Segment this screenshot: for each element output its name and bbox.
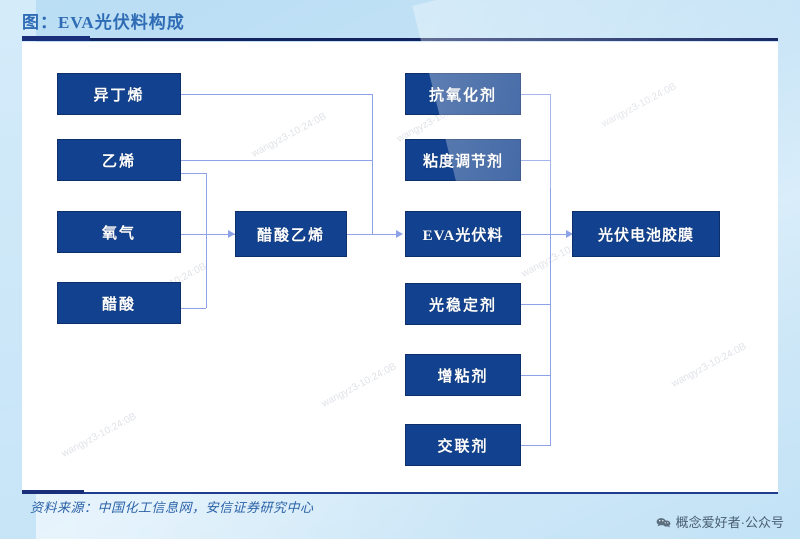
connector-antioxidant-h <box>521 94 550 95</box>
node-crosslinker[interactable]: 交联剂 <box>405 424 521 466</box>
connector-eva-out-h <box>521 234 550 235</box>
connector-isobutene-h <box>181 94 372 95</box>
arrowhead-to-eva <box>396 230 403 238</box>
footer-divider-cap <box>22 490 84 494</box>
node-acetic-acid[interactable]: 醋酸 <box>57 282 181 324</box>
node-pv-cell-encapsulant[interactable]: 光伏电池胶膜 <box>572 211 720 257</box>
page-title: 图：EVA光伏料构成 <box>22 11 778 41</box>
wechat-icon <box>656 516 671 527</box>
node-ethylene[interactable]: 乙烯 <box>57 139 181 181</box>
node-light-stabilizer-label: 光稳定剂 <box>429 294 497 315</box>
title-underline-cap <box>22 36 90 41</box>
connector-tackifier-h <box>521 375 550 376</box>
arrowhead-to-vinyl-acetate <box>228 230 235 238</box>
source-note: 资料来源：中国化工信息网，安信证券研究中心 <box>30 497 314 516</box>
node-eva-pv-resin[interactable]: EVA光伏料 <box>405 211 521 257</box>
node-vinyl-acetate-label: 醋酸乙烯 <box>257 224 325 245</box>
brand-credit-label: 概念爱好者·公众号 <box>676 512 784 531</box>
node-vinyl-acetate[interactable]: 醋酸乙烯 <box>235 211 347 257</box>
node-eva-pv-resin-label: EVA光伏料 <box>423 224 504 245</box>
connector-acetic-acid-h <box>181 308 206 309</box>
connector-upper-bus-v <box>372 94 373 234</box>
connector-lightstabilizer-h <box>521 304 550 305</box>
page-title-text: 图：EVA光伏料构成 <box>22 11 778 35</box>
node-viscosity-modifier[interactable]: 粘度调节剂 <box>405 139 521 181</box>
connector-viscosity-h <box>521 160 550 161</box>
connector-right-bus-v <box>550 94 551 446</box>
node-light-stabilizer[interactable]: 光稳定剂 <box>405 283 521 325</box>
node-tackifier-label: 增粘剂 <box>437 365 488 386</box>
footer-divider <box>22 492 778 494</box>
connector-ethylene-h <box>181 160 372 161</box>
node-acetic-acid-label: 醋酸 <box>102 293 136 314</box>
node-antioxidant[interactable]: 抗氧化剂 <box>405 73 521 115</box>
node-isobutene-label: 异丁烯 <box>93 84 144 105</box>
connector-vinyl-acetate-to-eva-h <box>347 234 399 235</box>
node-oxygen-label: 氧气 <box>102 222 136 243</box>
node-oxygen[interactable]: 氧气 <box>57 211 181 253</box>
node-crosslinker-label: 交联剂 <box>437 435 488 456</box>
connector-crosslinker-h <box>521 445 550 446</box>
brand-credit: 概念爱好者·公众号 <box>656 512 784 531</box>
slide-canvas: 图：EVA光伏料构成 wangyz3-10:24:0B wangyz3-10:2… <box>0 0 800 539</box>
node-ethylene-label: 乙烯 <box>102 150 136 171</box>
node-tackifier[interactable]: 增粘剂 <box>405 354 521 396</box>
node-isobutene[interactable]: 异丁烯 <box>57 73 181 115</box>
connector-ethylene-branch-h <box>181 173 206 174</box>
connector-left-bus-v <box>206 173 207 308</box>
node-pv-cell-encapsulant-label: 光伏电池胶膜 <box>598 224 694 245</box>
node-antioxidant-label: 抗氧化剂 <box>429 84 497 105</box>
connector-oxygen-h <box>181 234 228 235</box>
title-underline <box>22 38 778 41</box>
node-viscosity-modifier-label: 粘度调节剂 <box>423 150 503 171</box>
